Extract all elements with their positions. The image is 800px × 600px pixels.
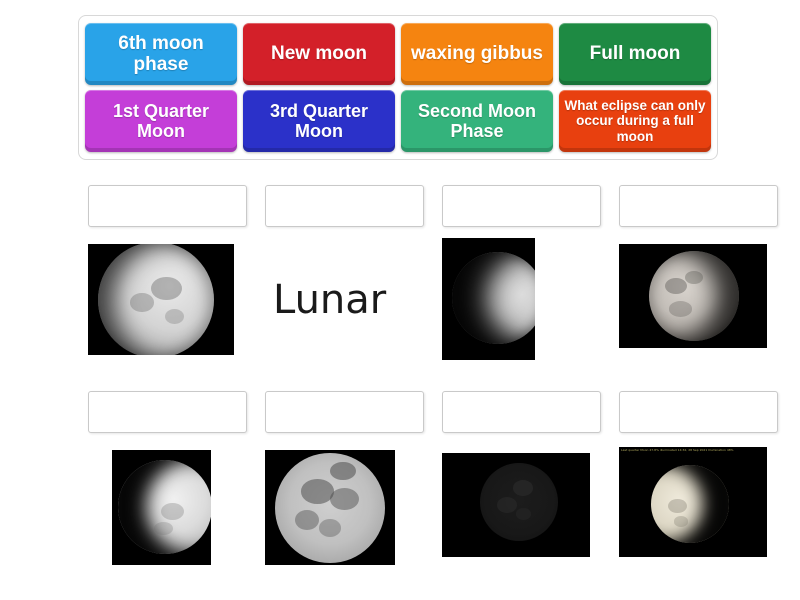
- answer-cell-7: [442, 391, 601, 565]
- dropzone-6[interactable]: [265, 391, 424, 433]
- media-4: [619, 244, 778, 348]
- moon-disc: [452, 252, 535, 344]
- tile-bank-rows: 6th moon phase New moon waxing gibbus Fu…: [85, 23, 711, 152]
- full-moon-photo[interactable]: [265, 450, 395, 565]
- dropzone-7[interactable]: [442, 391, 601, 433]
- answer-cell-6: [265, 391, 424, 565]
- answer-cell-1: [88, 185, 247, 360]
- waning-gibbous-moon-photo-2[interactable]: [619, 244, 767, 348]
- photo-caption: Last quarter Moon 47.8% illuminated 14:3…: [621, 448, 734, 453]
- tile-6th-moon-phase[interactable]: 6th moon phase: [85, 23, 237, 85]
- first-quarter-moon-photo[interactable]: [112, 450, 211, 565]
- new-moon-photo[interactable]: [442, 453, 590, 557]
- tile-bank-row-2: 1st Quarter Moon 3rd Quarter Moon Second…: [85, 90, 711, 152]
- media-6: [265, 450, 424, 565]
- tile-second-moon-phase[interactable]: Second Moon Phase: [401, 90, 553, 152]
- answer-cell-5: [88, 391, 247, 565]
- dropzone-5[interactable]: [88, 391, 247, 433]
- waning-gibbous-moon-photo[interactable]: [88, 244, 234, 355]
- tile-1st-quarter-moon[interactable]: 1st Quarter Moon: [85, 90, 237, 152]
- moon-disc: [649, 251, 739, 341]
- media-1: [88, 244, 247, 355]
- tile-bank-row-1: 6th moon phase New moon waxing gibbus Fu…: [85, 23, 711, 85]
- moon-disc: [98, 244, 214, 355]
- dropzone-4[interactable]: [619, 185, 778, 227]
- tile-full-moon[interactable]: Full moon: [559, 23, 711, 85]
- media-3: [442, 238, 601, 360]
- media-2: Lunar: [265, 244, 424, 320]
- answer-row-2: Last quarter Moon 47.8% illuminated 14:3…: [0, 391, 800, 565]
- moon-disc: [651, 465, 729, 543]
- answer-cell-2: Lunar: [265, 185, 424, 360]
- dropzone-2[interactable]: [265, 185, 424, 227]
- waxing-crescent-moon-photo[interactable]: [442, 238, 535, 360]
- third-quarter-moon-photo[interactable]: Last quarter Moon 47.8% illuminated 14:3…: [619, 447, 767, 557]
- dropzone-3[interactable]: [442, 185, 601, 227]
- dropzone-1[interactable]: [88, 185, 247, 227]
- dropzone-8[interactable]: [619, 391, 778, 433]
- answer-cell-4: [619, 185, 778, 360]
- answer-cell-8: Last quarter Moon 47.8% illuminated 14:3…: [619, 391, 778, 565]
- media-8: Last quarter Moon 47.8% illuminated 14:3…: [619, 447, 778, 557]
- moon-disc: [275, 453, 385, 563]
- media-7: [442, 453, 601, 557]
- moon-disc: [118, 460, 211, 554]
- media-5: [88, 450, 247, 565]
- answer-row-1: Lunar: [0, 185, 800, 360]
- tile-bank: 6th moon phase New moon waxing gibbus Fu…: [78, 15, 718, 160]
- tile-what-eclipse-question[interactable]: What eclipse can only occur during a ful…: [559, 90, 711, 152]
- answer-cell-3: [442, 185, 601, 360]
- text-item-lunar[interactable]: Lunar: [265, 244, 386, 320]
- moon-disc: [480, 463, 558, 541]
- tile-3rd-quarter-moon[interactable]: 3rd Quarter Moon: [243, 90, 395, 152]
- tile-waxing-gibbus[interactable]: waxing gibbus: [401, 23, 553, 85]
- tile-new-moon[interactable]: New moon: [243, 23, 395, 85]
